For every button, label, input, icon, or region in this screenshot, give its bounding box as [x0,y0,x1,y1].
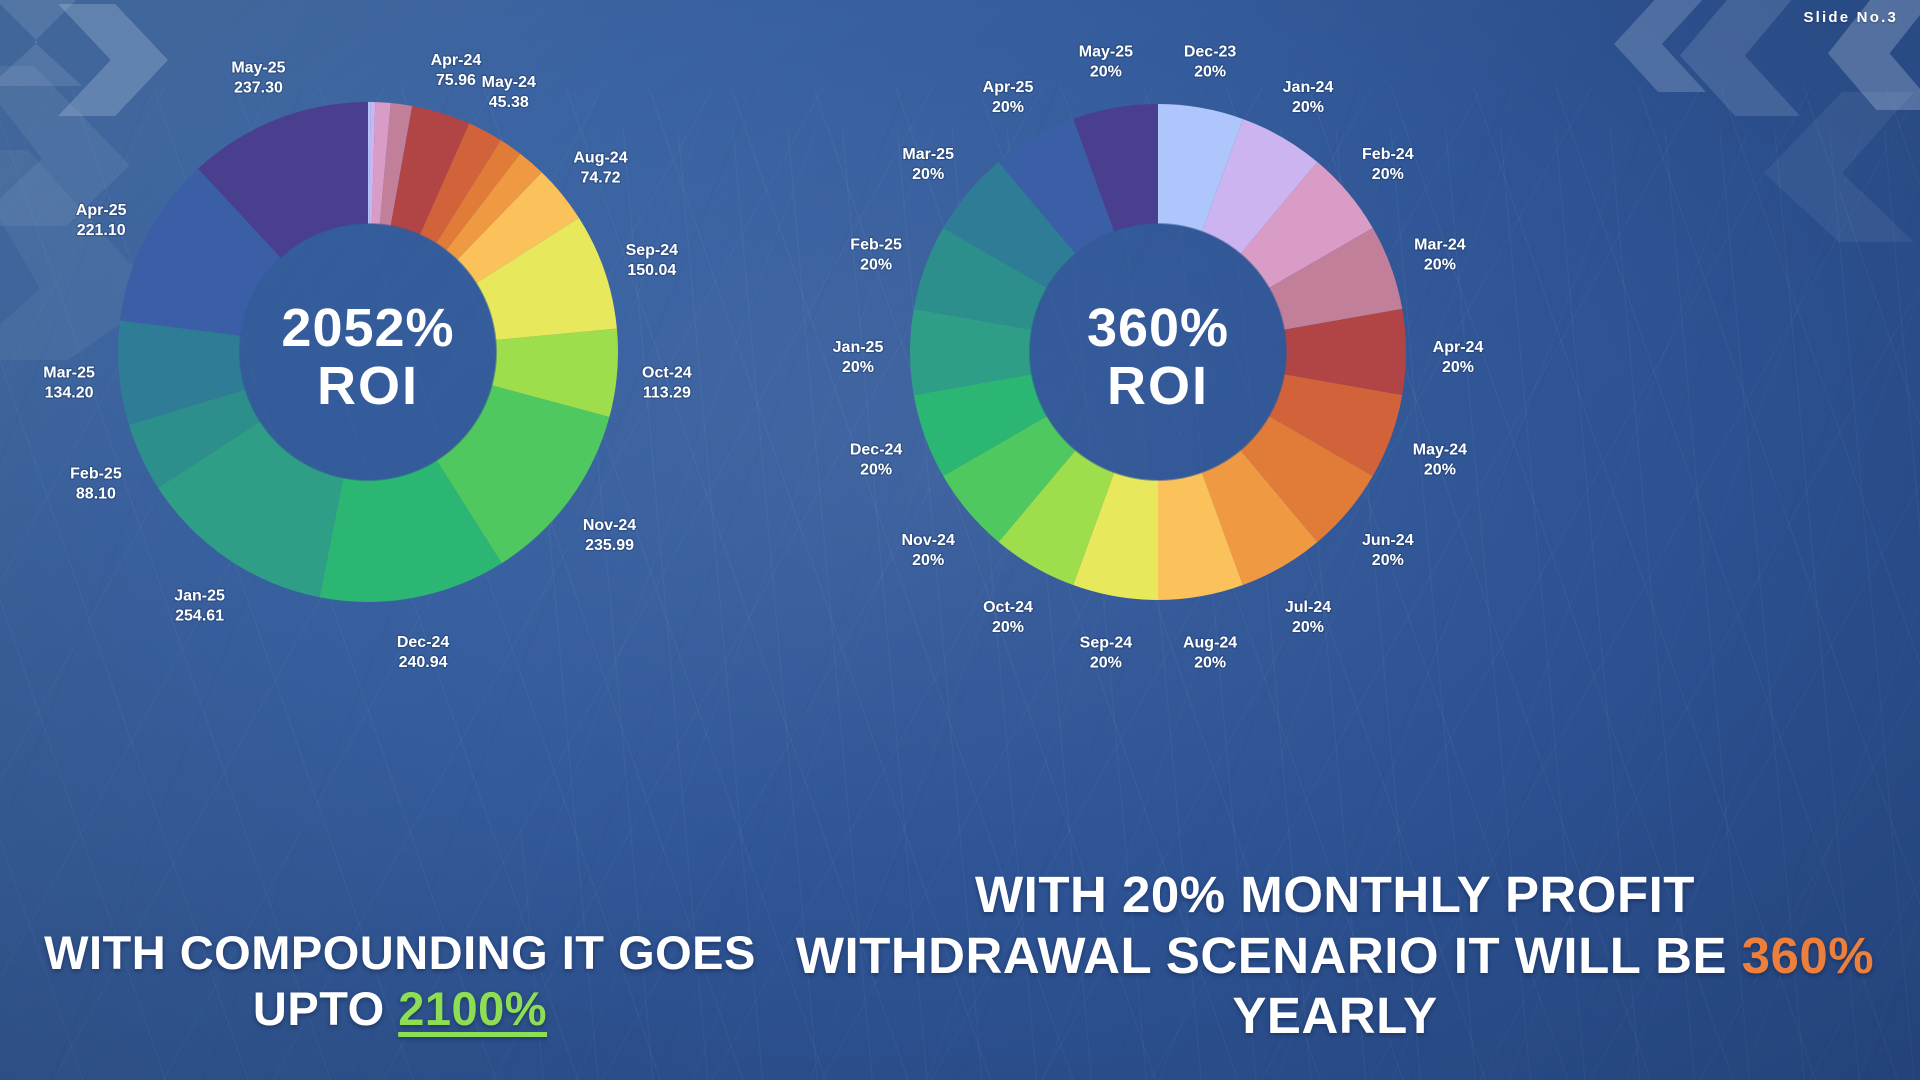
slice-label-value: 20% [1194,654,1226,671]
slice-label-month: Mar-25 [43,364,95,381]
slice-label-value: 20% [1424,256,1456,273]
slice-label-value: 20% [992,619,1024,636]
slice-label-month: Apr-25 [76,202,127,219]
slice-label-value: 235.99 [585,537,634,554]
slice-label-month: May-25 [1079,44,1133,61]
caption-left-highlight: 2100% [398,982,547,1035]
slice-label-month: Jan-24 [1283,79,1334,96]
slice-label-value: 20% [1292,619,1324,636]
slice-label-month: May-24 [1413,442,1467,459]
donut-center-primary: 2052% [281,298,454,358]
slice-label-month: Mar-25 [902,146,954,163]
caption-right-highlight: 360% [1742,927,1874,984]
slice-label-value: 45.38 [489,94,529,111]
slice-label-month: Feb-25 [70,465,122,482]
slice-label-value: 20% [1292,99,1324,116]
slice-label-value: 20% [1372,166,1404,183]
slice-label-month: Aug-24 [573,149,627,166]
slice-label-month: Mar-24 [1414,236,1466,253]
slice-label-value: 20% [1090,64,1122,81]
slice-label-month: Jun-24 [1362,532,1414,549]
slice-label-value: 20% [1442,359,1474,376]
slice-label-value: 113.29 [643,384,691,401]
slice-label-value: 20% [992,99,1024,116]
slice-label-month: Aug-24 [1183,634,1237,651]
slice-label-month: Dec-24 [850,442,903,459]
slice-label-value: 20% [842,359,874,376]
slice-label-value: 20% [1424,462,1456,479]
slice-label-value: 88.10 [76,485,116,502]
slice-label-month: Dec-23 [1184,44,1237,61]
caption-right: WITH 20% MONTHLY PROFIT WITHDRAWAL SCENA… [790,865,1880,1046]
slice-label-month: May-24 [482,74,536,91]
caption-right-text: WITH 20% MONTHLY PROFIT WITHDRAWAL SCENA… [796,866,1742,983]
caption-left: WITH COMPOUNDING IT GOES UPTO 2100% [40,925,760,1036]
slice-label-value: 20% [1194,64,1226,81]
slice-label-month: May-25 [231,60,285,77]
slice-label-value: 254.61 [175,607,224,624]
slice-label-value: 134.20 [45,384,94,401]
slice-label-month: Feb-24 [1362,146,1414,163]
slice-label-value: 20% [912,166,944,183]
slice-label-value: 20% [860,462,892,479]
slice-label-value: 237.30 [234,80,283,97]
slice-label-value: 221.10 [77,222,126,239]
caption-right-text-suffix: YEARLY [1232,987,1437,1044]
slice-label-month: Feb-25 [850,236,902,253]
slice-label-month: Oct-24 [983,599,1033,616]
slice-label-value: 240.94 [399,654,448,671]
slice-label-month: Apr-24 [1433,339,1484,356]
slice-label-value: 20% [1090,654,1122,671]
donut-center-secondary: ROI [1107,356,1209,416]
slide-number: Slide No.3 [1803,9,1898,26]
slice-label-value: 20% [912,552,944,569]
slice-label-month: Dec-24 [397,634,450,651]
slice-label-month: Jan-25 [174,587,225,604]
slice-label-month: Nov-24 [902,532,955,549]
slice-label-value: 20% [860,256,892,273]
slice-label-month: Apr-25 [983,79,1034,96]
slice-label-month: Apr-24 [431,52,482,69]
withdrawal-donut-chart: Dec-2320%Jan-2420%Feb-2420%Mar-2420%Apr-… [820,0,1920,680]
slice-label-value: 75.96 [436,72,476,89]
slice-label-month: Sep-24 [626,242,679,259]
slice-label-month: Sep-24 [1080,634,1133,651]
slice-label-month: Jul-24 [1285,599,1331,616]
slice-label-month: Jan-25 [833,339,884,356]
donut-center-primary: 360% [1087,298,1229,358]
slice-label-value: 150.04 [627,262,676,279]
donut-center-secondary: ROI [317,356,419,416]
compounding-donut-chart: Apr-2475.96May-2445.38Aug-2474.72Sep-241… [0,0,900,680]
slice-label-month: Oct-24 [642,364,692,381]
slice-label-value: 20% [1372,552,1404,569]
slice-label-month: Nov-24 [583,517,636,534]
slice-label-value: 74.72 [580,169,620,186]
